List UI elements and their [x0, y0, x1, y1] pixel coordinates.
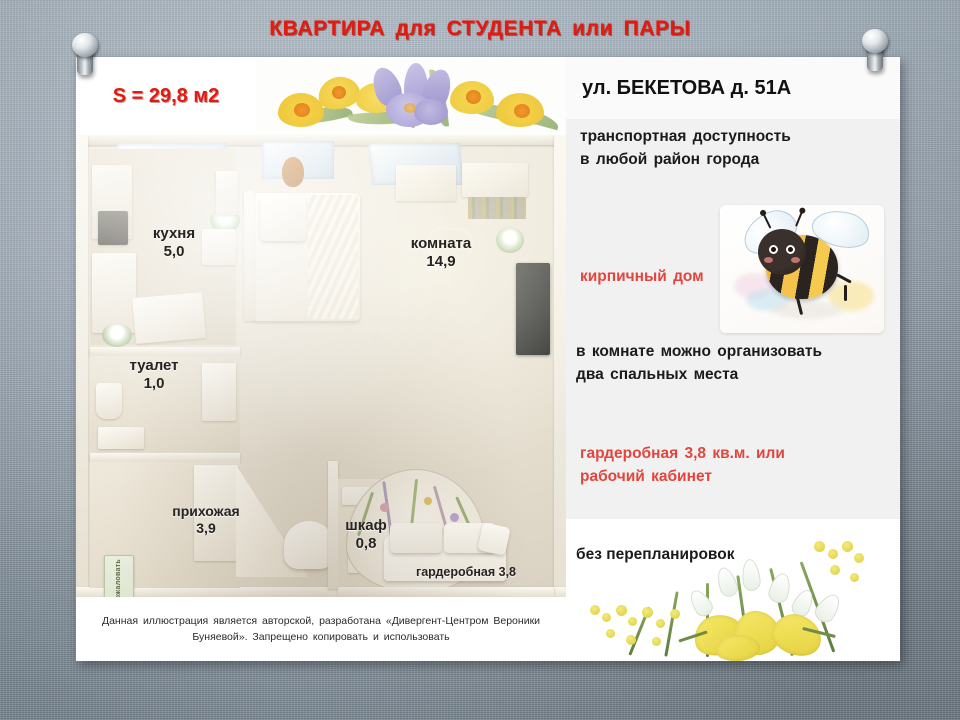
- pushpin-head: [72, 33, 98, 57]
- area-badge: S = 29,8 м2: [76, 57, 256, 135]
- bee-cheek-left: [764, 257, 773, 263]
- room-label-wardrobe: гардеробная 3,8: [376, 565, 556, 580]
- room-label-closet: шкаф 0,8: [324, 517, 408, 552]
- flower-border-illustration: [256, 59, 566, 135]
- wardrobe-feature: гардеробная 3,8 кв.м. или рабочий кабине…: [580, 442, 785, 489]
- bee-cheek-right: [791, 257, 800, 263]
- floorplan-image: кухня 5,0 туалет 1,0 комната 14,9 прихож…: [76, 135, 566, 597]
- area-badge-label: S = 29,8 м2: [113, 85, 220, 108]
- listing-poster: S = 29,8 м2: [76, 57, 900, 661]
- bumblebee-icon: [720, 205, 884, 333]
- right-column: ул. БЕКЕТОВА д. 51А транспортная доступн…: [566, 57, 900, 661]
- transport-line-2: в любой район города: [580, 148, 791, 171]
- copyright-notice: Данная иллюстрация является авторской, р…: [76, 597, 566, 661]
- left-column: S = 29,8 м2: [76, 57, 566, 661]
- brick-house-feature: кирпичный дом: [580, 265, 704, 288]
- address-block: ул. БЕКЕТОВА д. 51А: [566, 57, 900, 119]
- beds-line-1: в комнате можно организовать: [576, 340, 822, 363]
- wardrobe-line-2: рабочий кабинет: [580, 465, 785, 488]
- doormat: Добро пожаловать: [104, 555, 134, 597]
- bee-leg-2: [844, 285, 847, 301]
- bee-eye-right: [786, 245, 795, 254]
- copyright-text: Данная иллюстрация является авторской, р…: [90, 613, 552, 646]
- room-label-toilet: туалет 1,0: [104, 357, 204, 392]
- transport-line-1: транспортная доступность: [580, 125, 791, 148]
- pushpin-icon-left: [68, 33, 102, 79]
- sleeping-places-feature: в комнате можно организовать два спальны…: [576, 340, 822, 387]
- bee-eye-left: [769, 245, 778, 254]
- room-label-kitchen: кухня 5,0: [126, 225, 222, 260]
- beds-line-2: два спальных места: [576, 363, 822, 386]
- address-label: ул. БЕКЕТОВА д. 51А: [582, 77, 791, 100]
- wardrobe-line-1: гардеробная 3,8 кв.м. или: [580, 442, 785, 465]
- bee-antenna-right: [795, 211, 803, 227]
- room-label-living: комната 14,9: [386, 235, 496, 270]
- bee-head: [758, 229, 806, 275]
- no-replanning-label: без перепланировок: [576, 546, 734, 564]
- page-title: КВАРТИРА для СТУДЕНТА или ПАРЫ: [0, 17, 960, 41]
- pushpin-icon-right: [858, 29, 892, 75]
- doormat-label: Добро пожаловать: [115, 559, 124, 597]
- no-replanning-block: без перепланировок: [566, 519, 900, 661]
- pushpin-head: [862, 29, 888, 53]
- room-label-hallway: прихожая 3,9: [154, 503, 258, 536]
- transport-feature: транспортная доступность в любой район г…: [580, 125, 791, 172]
